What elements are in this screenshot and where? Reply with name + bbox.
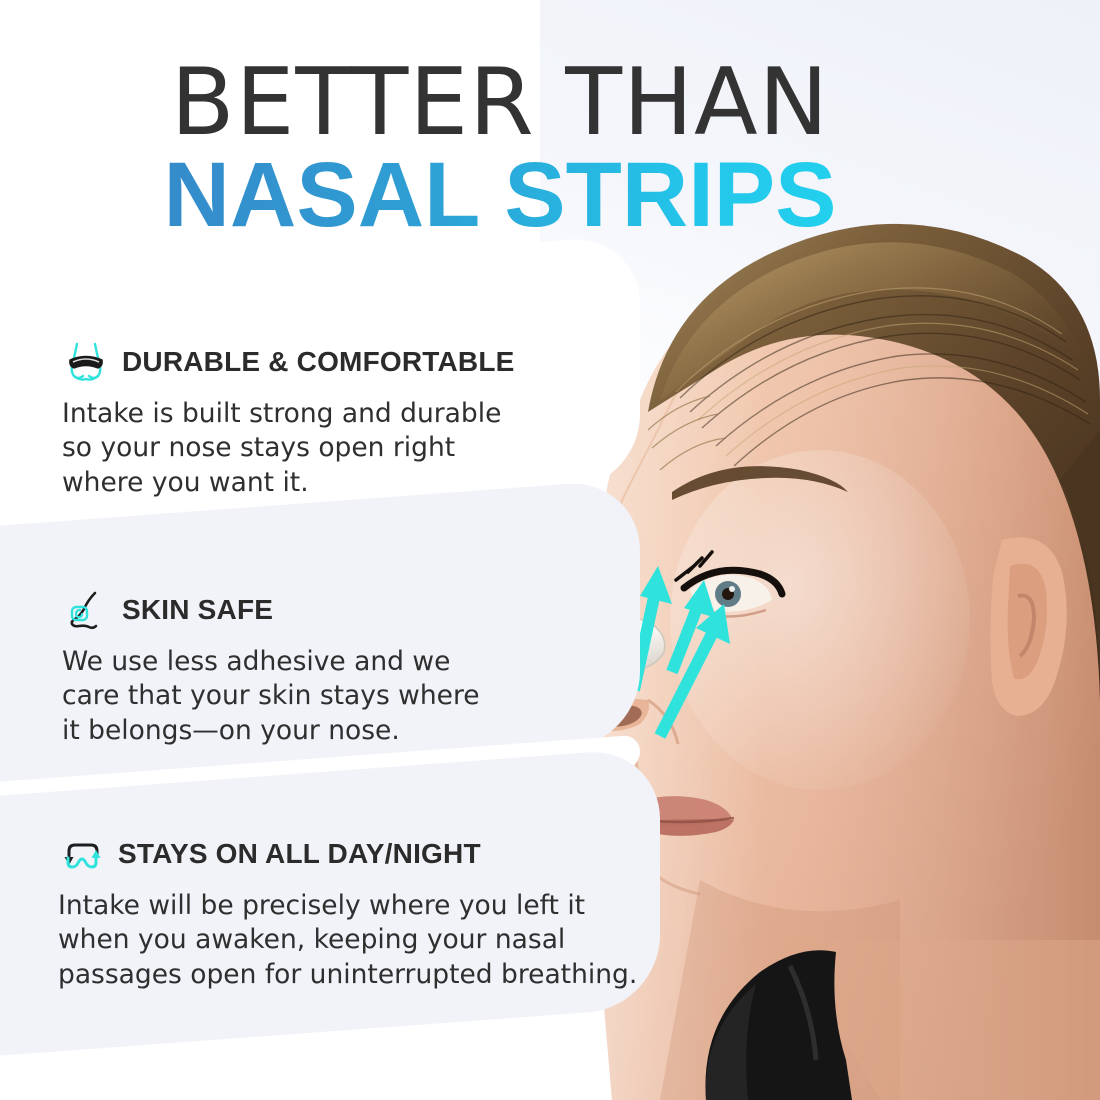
nose-front-with-strip-icon — [62, 340, 110, 384]
feature-item-durable-comfortable: DURABLE & COMFORTABLE Intake is built st… — [62, 340, 515, 500]
feature-1-body: Intake is built strong and durable so yo… — [62, 397, 515, 500]
feature-3-title: STAYS ON ALL DAY/NIGHT — [118, 838, 481, 870]
feature-1-title: DURABLE & COMFORTABLE — [122, 346, 515, 378]
feature-1-header: DURABLE & COMFORTABLE — [62, 340, 515, 384]
feature-2-title: SKIN SAFE — [122, 594, 273, 626]
dilator-cycle-icon — [58, 832, 106, 876]
feature-2-header: SKIN SAFE — [62, 588, 480, 632]
headline-line-2: NASAL STRIPS — [0, 151, 1000, 239]
feature-3-header: STAYS ON ALL DAY/NIGHT — [58, 832, 637, 876]
nose-profile-skin-icon — [62, 588, 110, 632]
feature-item-skin-safe: SKIN SAFE We use less adhesive and we ca… — [62, 588, 480, 748]
ad-creative-canvas: BETTER THAN NASAL STRIPS DURABLE & COMFO… — [0, 0, 1100, 1100]
headline-block: BETTER THAN NASAL STRIPS — [0, 58, 1000, 240]
feature-3-body: Intake will be precisely where you left … — [58, 889, 637, 992]
headline-line-1: BETTER THAN — [0, 58, 1000, 147]
feature-2-body: We use less adhesive and we care that yo… — [62, 645, 480, 748]
feature-item-stays-on-all-day-night: STAYS ON ALL DAY/NIGHT Intake will be pr… — [58, 832, 637, 992]
